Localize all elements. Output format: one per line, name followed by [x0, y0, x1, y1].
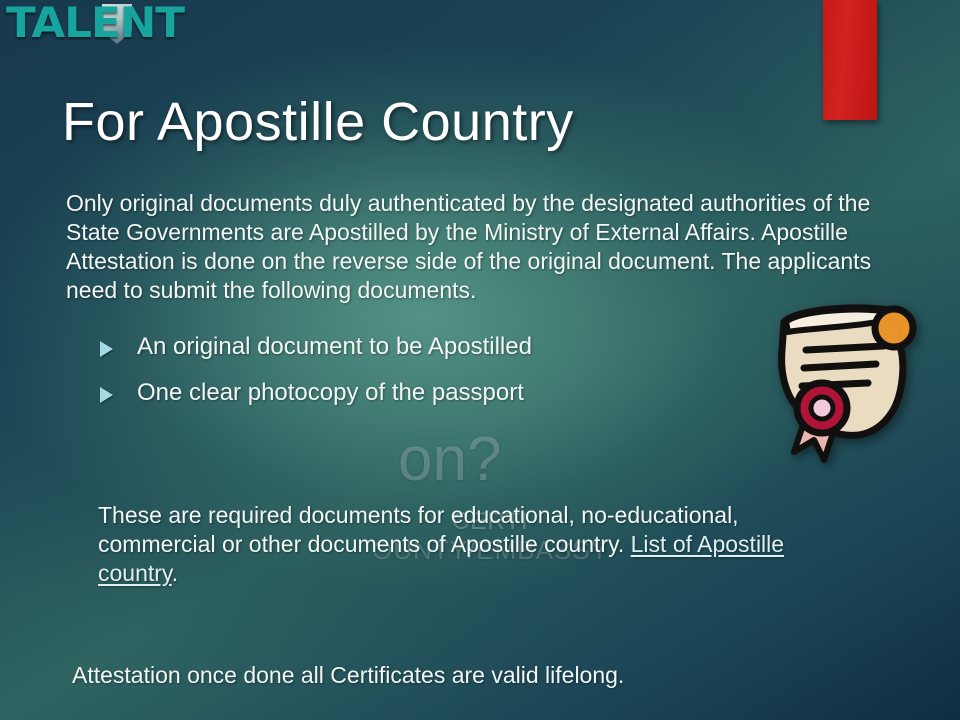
presentation-slide: TALENT attestation For Apostille Country…	[0, 0, 960, 720]
certificate-scroll-icon	[766, 288, 930, 464]
triangle-bullet-icon	[100, 387, 113, 403]
required-documents-paragraph: These are required documents for educati…	[98, 501, 818, 588]
brand-logo: TALENT attestation	[6, 2, 218, 60]
triangle-bullet-icon	[100, 341, 113, 357]
closing-statement: Attestation once done all Certificates a…	[72, 661, 872, 690]
list-item-label: An original document to be Apostilled	[137, 332, 532, 362]
intro-paragraph: Only original documents duly authenticat…	[66, 189, 886, 305]
logo-wordmark: TALENT	[6, 2, 226, 44]
list-item: An original document to be Apostilled	[100, 332, 800, 362]
list-item-label: One clear photocopy of the passport	[137, 378, 524, 408]
document-requirements-list: An original document to be Apostilled On…	[100, 332, 800, 424]
page-title: For Apostille Country	[62, 91, 574, 153]
ghost-text-question: on?	[398, 424, 501, 495]
required-paragraph-suffix: .	[172, 560, 178, 586]
list-item: One clear photocopy of the passport	[100, 378, 800, 408]
accent-bar	[823, 0, 877, 120]
